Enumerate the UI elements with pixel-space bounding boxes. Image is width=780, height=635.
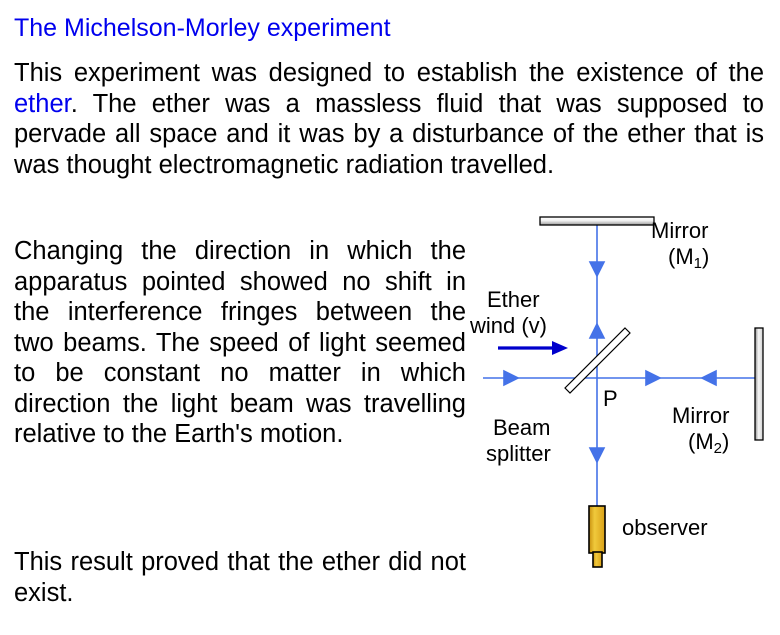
beam-arrow-right-tom2 [646, 371, 660, 385]
label-beam-splitter-line1: Beam [493, 415, 550, 441]
paragraph-2: Changing the direction in which the appa… [14, 236, 466, 450]
label-m2-subscript: 2 [714, 440, 722, 457]
label-ether-line2: wind (v) [470, 313, 547, 339]
mirror-m1 [540, 217, 654, 225]
ether-highlight: ether [14, 90, 71, 118]
beam-arrow-down-observer [590, 448, 604, 462]
label-m1-prefix: (M [668, 244, 694, 269]
ether-wind-arrow [498, 341, 568, 355]
slide-canvas: The Michelson-Morley experiment This exp… [0, 0, 780, 635]
label-ether-line1: Ether [487, 287, 540, 313]
label-mirror-m2-line2: (M2) [688, 429, 729, 458]
label-mirror-m2-line1: Mirror [672, 403, 729, 429]
label-m1-suffix: ) [702, 244, 709, 269]
beam-arrow-up-lower [590, 324, 604, 338]
mirror-m2 [755, 328, 763, 440]
label-point-p: P [603, 386, 618, 412]
beam-arrow-left-fromm2 [702, 371, 716, 385]
page-title: The Michelson-Morley experiment [14, 14, 391, 43]
observer-telescope [589, 506, 605, 567]
michelson-morley-diagram: Mirror (M1) Ether wind (v) P Beam splitt… [470, 200, 780, 570]
light-beam-group [483, 224, 760, 510]
label-observer: observer [622, 515, 708, 541]
beam-arrow-down-upper [590, 262, 604, 276]
label-m2-prefix: (M [688, 429, 714, 454]
label-mirror-m1-line1: Mirror [651, 218, 708, 244]
label-beam-splitter-line2: splitter [486, 441, 551, 467]
label-mirror-m1-line2: (M1) [668, 244, 709, 273]
paragraph-1-text-a: This experiment was designed to establis… [14, 59, 764, 87]
paragraph-3: This result proved that the ether did no… [14, 547, 466, 608]
label-m2-suffix: ) [722, 429, 729, 454]
label-m1-subscript: 1 [694, 255, 702, 272]
beam-arrow-right-entry [504, 371, 518, 385]
paragraph-1: This experiment was designed to establis… [14, 58, 764, 180]
paragraph-1-text-b: . The ether was a massless fluid that wa… [14, 90, 764, 179]
